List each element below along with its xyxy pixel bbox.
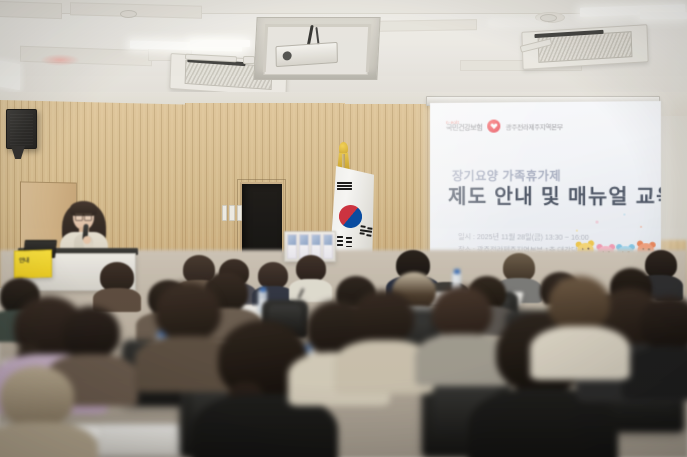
slide-title: 제도 안내 및 매뉴얼 교육: [448, 180, 661, 210]
trigram-geon: [337, 182, 352, 190]
light-switch[interactable]: [229, 205, 234, 221]
audience-member: [100, 262, 134, 300]
projector-mount-box: [253, 17, 380, 80]
audience-member: [0, 366, 74, 457]
yellow-sign: 안내: [14, 249, 52, 278]
seminar-room-photograph: n·eolt 국민건강보험 광주전라제주지역본부 장기요양 가족휴가제 제도 안…: [0, 0, 687, 457]
light-switch[interactable]: [222, 205, 227, 221]
smoke-detector: [120, 10, 137, 18]
audience-member: [155, 282, 221, 370]
audience-member: [296, 255, 326, 289]
audience-member: [640, 296, 687, 380]
audience-member: [432, 286, 492, 368]
audience-member: [503, 253, 535, 289]
projection-screen: n·eolt 국민건강보험 광주전라제주지역본부 장기요양 가족휴가제 제도 안…: [430, 101, 661, 273]
slide-meta-datetime: 일시 : 2025년 11월 28일(금) 13:30 ~ 16:00: [458, 231, 589, 244]
trigram-gon: [337, 236, 352, 247]
yellow-sign-label: 안내: [19, 257, 48, 265]
ceiling: [0, 0, 687, 98]
audience-member: [352, 290, 414, 374]
projector-lens: [283, 51, 292, 61]
logo-organization: 국민건강보험: [446, 125, 482, 132]
eyeglasses-icon: [75, 213, 92, 219]
wall-speaker: [6, 109, 37, 149]
light-switch[interactable]: [237, 205, 242, 221]
light-switch-panel[interactable]: [222, 205, 242, 221]
slide-logo: n·eolt 국민건강보험 광주전라제주지역본부: [446, 119, 563, 133]
ceiling-light-panel: [0, 60, 20, 90]
ceiling-light-panel: [640, 12, 687, 19]
ceiling-light-panel: [490, 20, 548, 25]
smoke-detector: [540, 14, 557, 22]
flag-cloth: [330, 166, 374, 263]
logo-branch: 광주전라제주지역본부: [506, 121, 563, 131]
audience-member: [548, 276, 610, 360]
projector: [275, 42, 337, 67]
trigram-gam: [359, 225, 372, 237]
ceiling-light-panel: [190, 40, 250, 47]
presenter-hand: [83, 236, 91, 244]
heart-icon: [487, 120, 500, 133]
